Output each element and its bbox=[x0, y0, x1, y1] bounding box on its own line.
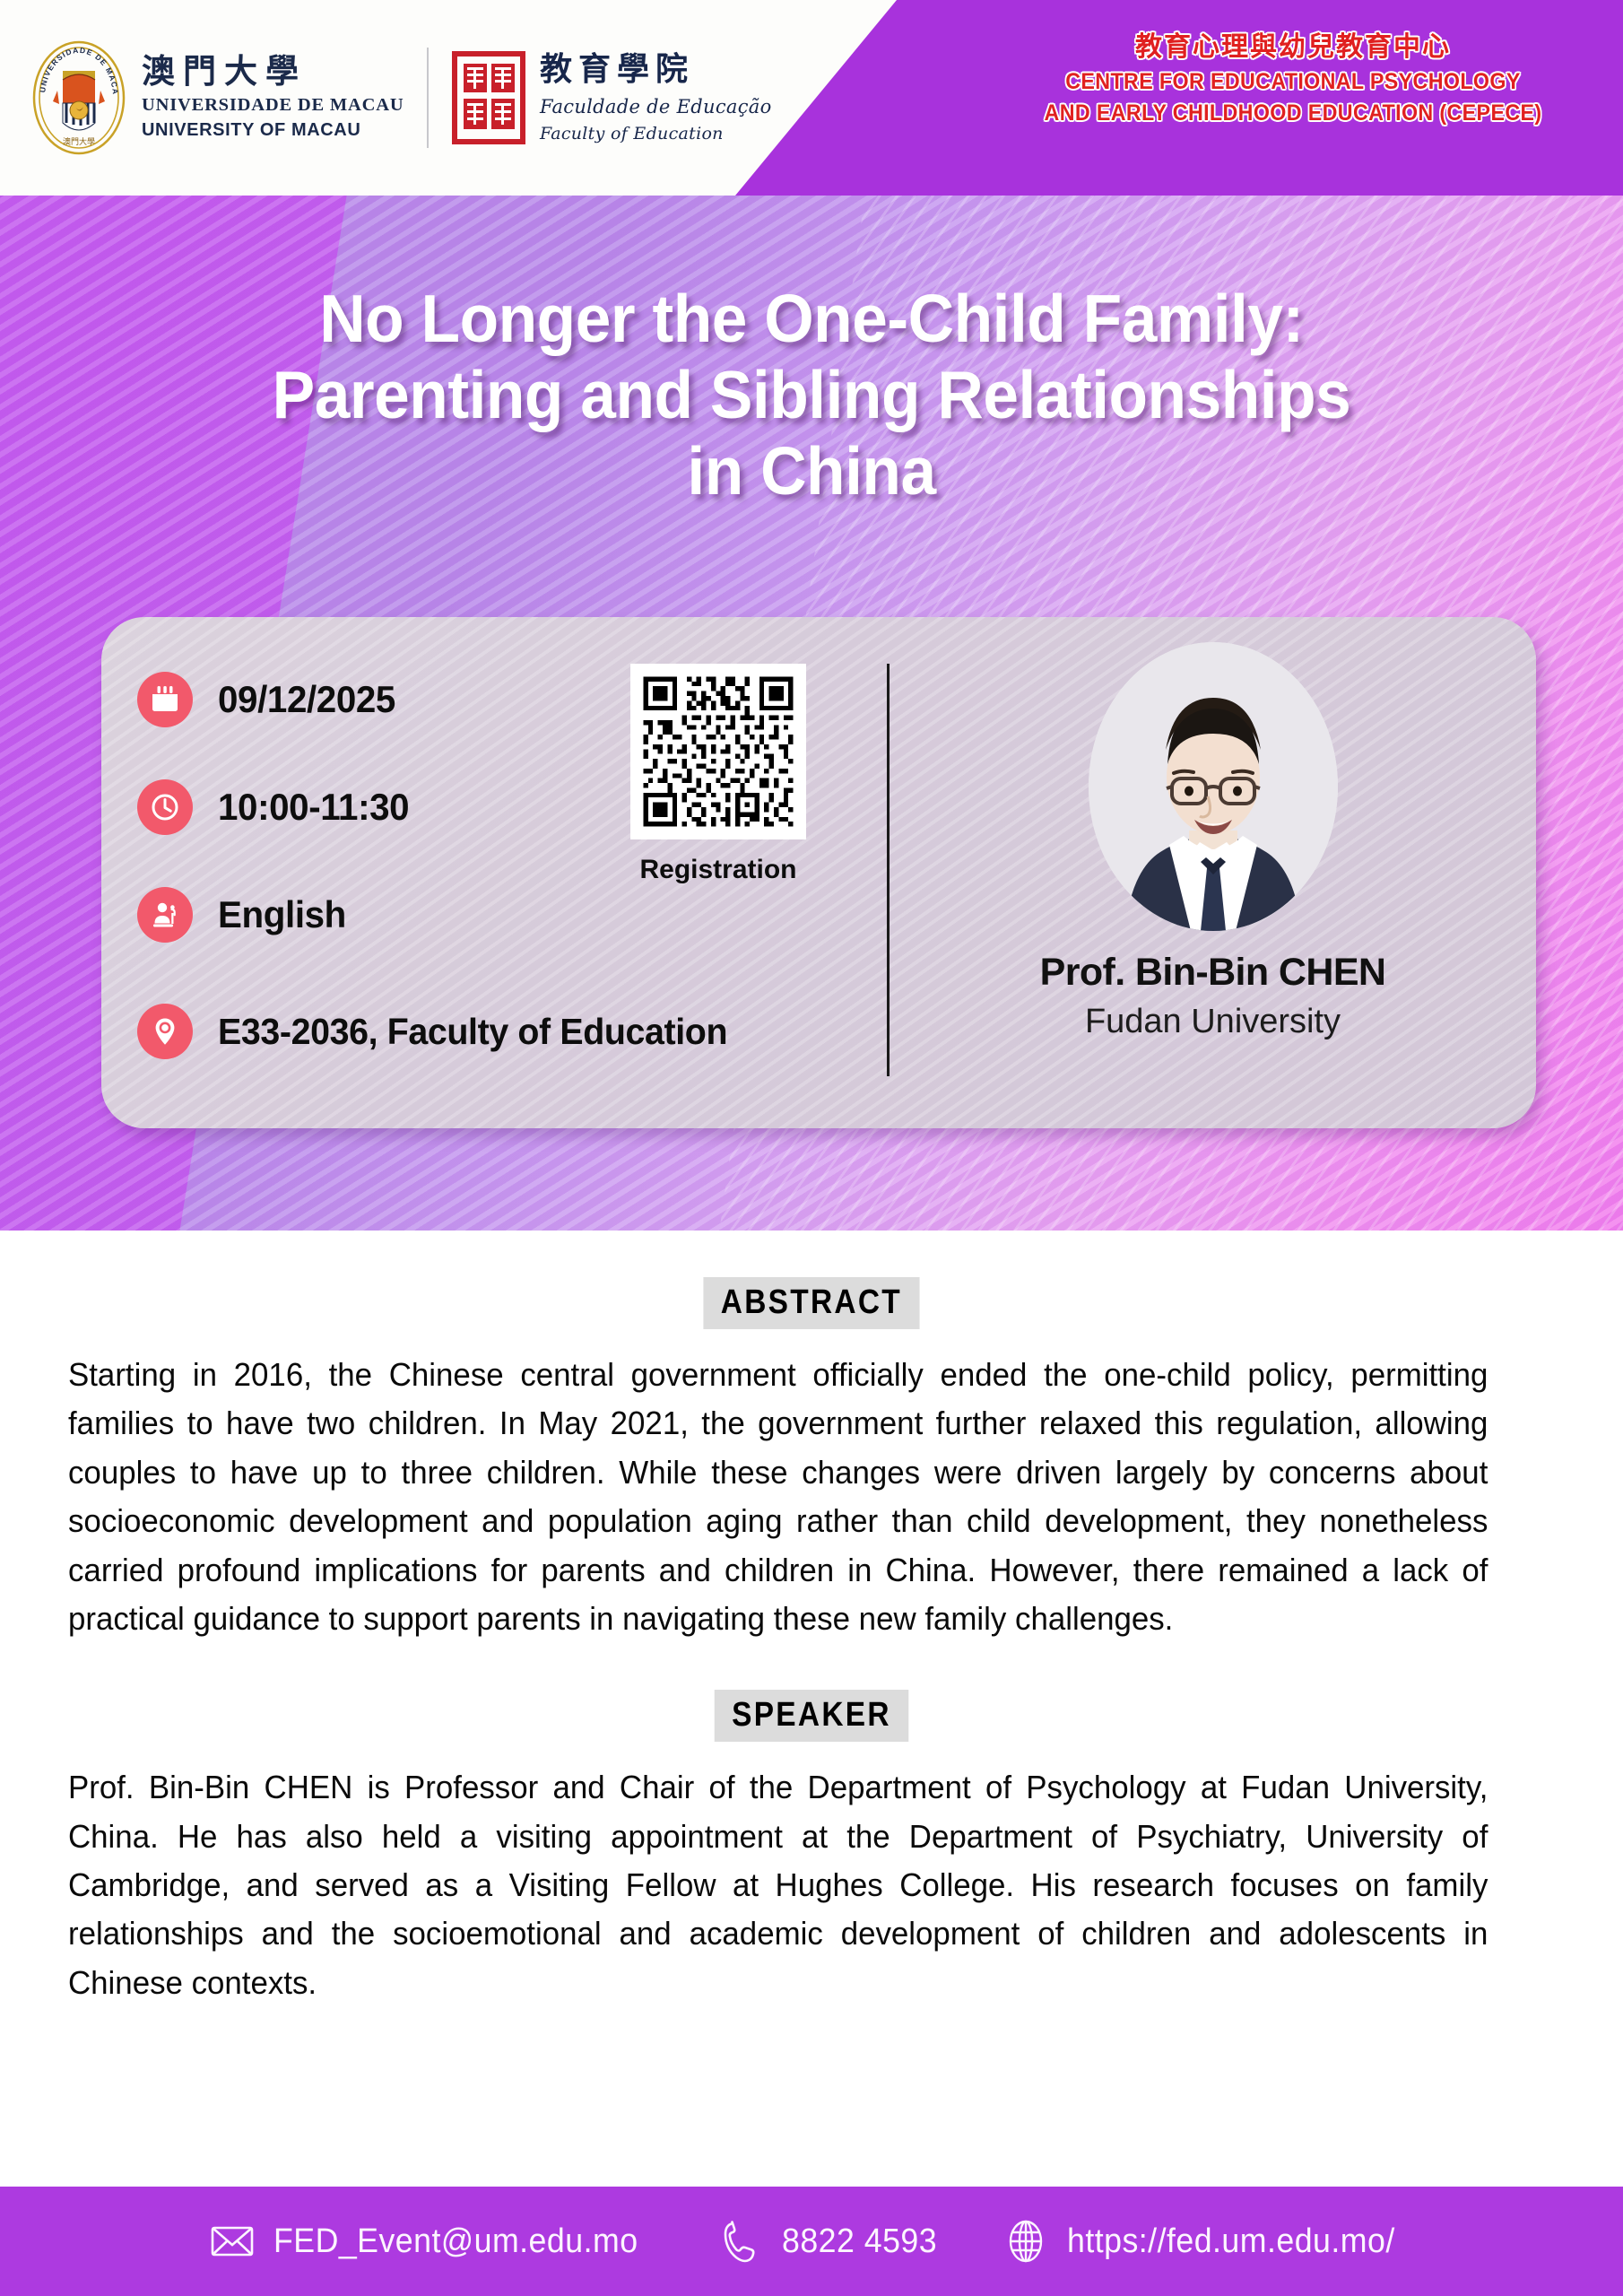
envelope-icon bbox=[207, 2216, 257, 2266]
faculty-name-cn: 教育學院 bbox=[540, 52, 772, 88]
event-date-row: 09/12/2025 bbox=[137, 646, 586, 753]
faculty-seal-icon bbox=[452, 51, 525, 144]
speaker-podium-icon bbox=[137, 887, 193, 943]
centre-title-block: 教育心理與幼兒教育中心 CENTRE FOR EDUCATIONAL PSYCH… bbox=[988, 30, 1598, 127]
poster-header: UNIVERSIDADE DE MACAU 澳門大學 澳門大學 UNIVERSI bbox=[0, 0, 1623, 196]
header-logo-row: UNIVERSIDADE DE MACAU 澳門大學 澳門大學 UNIVERSI bbox=[0, 0, 897, 196]
centre-name-cn: 教育心理與幼兒教育中心 bbox=[988, 30, 1598, 65]
registration-caption: Registration bbox=[639, 855, 796, 885]
title-line-2: Parenting and Sibling Relationships bbox=[169, 357, 1455, 433]
speaker-portrait-icon bbox=[1089, 642, 1338, 931]
qr-code-icon[interactable] bbox=[630, 664, 806, 839]
footer-phone-item[interactable]: 8822 4593 bbox=[716, 2216, 947, 2266]
event-date-value: 09/12/2025 bbox=[218, 678, 395, 721]
footer-website-value: https://fed.um.edu.mo/ bbox=[1067, 2222, 1395, 2261]
poster-body: ABSTRACT Starting in 2016, the Chinese c… bbox=[0, 1231, 1623, 2007]
event-venue-row: E33-2036, Faculty of Education bbox=[137, 978, 1124, 1085]
university-name-pt: UNIVERSIDADE DE MACAU bbox=[142, 95, 411, 116]
location-pin-icon bbox=[137, 1004, 193, 1059]
faculty-wordmark: 教育學院 Faculdade de Educação Faculty of Ed… bbox=[540, 52, 772, 143]
footer-email-value: FED_Event@um.edu.mo bbox=[273, 2222, 638, 2261]
footer-phone-value: 8822 4593 bbox=[782, 2222, 937, 2261]
title-line-1: No Longer the One-Child Family: bbox=[169, 281, 1455, 357]
university-wordmark: 澳門大學 UNIVERSIDADE DE MACAU UNIVERSITY OF… bbox=[142, 55, 411, 142]
calendar-icon bbox=[137, 672, 193, 727]
centre-name-en-line2: AND EARLY CHILDHOOD EDUCATION (CEPECE) bbox=[1010, 99, 1576, 127]
phone-icon bbox=[716, 2216, 766, 2266]
speaker-heading-label: SPEAKER bbox=[715, 1690, 908, 1742]
university-name-cn: 澳門大學 bbox=[142, 55, 411, 90]
speaker-heading: SPEAKER bbox=[0, 1690, 1623, 1742]
header-divider bbox=[427, 48, 429, 148]
page-title: No Longer the One-Child Family: Parentin… bbox=[40, 281, 1583, 509]
abstract-heading-label: ABSTRACT bbox=[704, 1277, 920, 1329]
clock-icon bbox=[137, 779, 193, 835]
event-time-row: 10:00-11:30 bbox=[137, 753, 586, 861]
university-name-en: UNIVERSITY OF MACAU bbox=[142, 120, 411, 141]
speaker-bio-text: Prof. Bin-Bin CHEN is Professor and Chai… bbox=[68, 1763, 1488, 2007]
event-time-value: 10:00-11:30 bbox=[218, 786, 409, 829]
faculty-name-en: Faculty of Education bbox=[540, 124, 772, 143]
poster-root: UNIVERSIDADE DE MACAU 澳門大學 澳門大學 UNIVERSI bbox=[0, 0, 1623, 2296]
event-details-column: 09/12/2025 10:00-11:30 English bbox=[101, 617, 586, 1128]
event-info-card: 09/12/2025 10:00-11:30 English bbox=[101, 617, 1536, 1128]
university-crest-icon: UNIVERSIDADE DE MACAU 澳門大學 bbox=[30, 39, 127, 157]
abstract-text: Starting in 2016, the Chinese central go… bbox=[68, 1351, 1488, 1643]
globe-icon bbox=[1001, 2216, 1051, 2266]
event-language-row: English bbox=[137, 861, 586, 969]
footer-website-item[interactable]: https://fed.um.edu.mo/ bbox=[1001, 2216, 1416, 2266]
footer-email-item[interactable]: FED_Event@um.edu.mo bbox=[207, 2216, 661, 2266]
centre-name-en-line1: CENTRE FOR EDUCATIONAL PSYCHOLOGY bbox=[1010, 67, 1576, 96]
faculty-name-pt: Faculdade de Educação bbox=[540, 96, 772, 117]
poster-footer: FED_Event@um.edu.mo 8822 4593 https://fe… bbox=[0, 2187, 1623, 2296]
svg-text:澳門大學: 澳門大學 bbox=[63, 136, 95, 147]
event-venue-value: E33-2036, Faculty of Education bbox=[218, 1011, 727, 1053]
title-line-3: in China bbox=[169, 433, 1455, 509]
abstract-heading: ABSTRACT bbox=[0, 1277, 1623, 1329]
event-language-value: English bbox=[218, 893, 346, 936]
